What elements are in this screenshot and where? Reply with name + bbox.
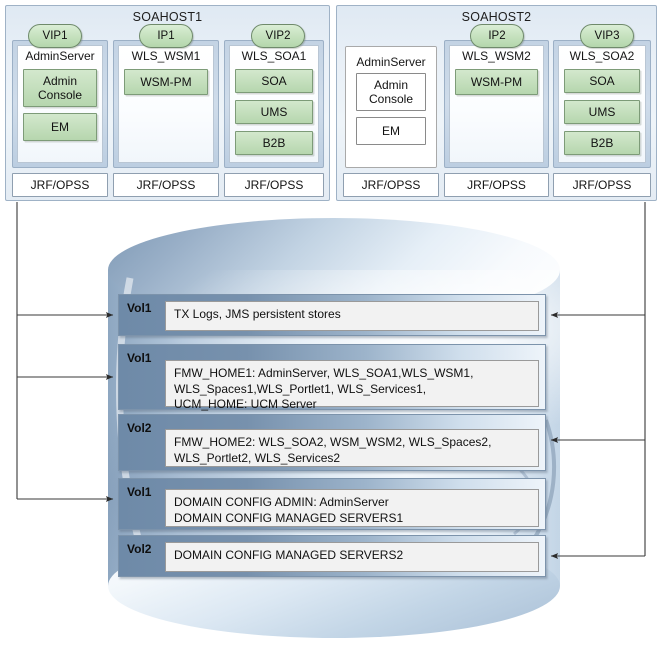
vip-badge-vip3: VIP3 xyxy=(580,24,634,48)
server-name: WLS_WSM1 xyxy=(114,49,218,63)
volume-row-5: Vol2 DOMAIN CONFIG MANAGED SERVERS2 xyxy=(118,535,546,577)
server-name: AdminServer xyxy=(346,55,436,69)
vip-badge-vip2: VIP2 xyxy=(251,24,305,48)
jrf-opss-box-3: JRF/OPSS xyxy=(224,173,324,197)
component-soa: SOA xyxy=(564,69,640,93)
host-title: SOAHOST2 xyxy=(337,10,656,24)
diagram-canvas: SOAHOST1 VIP1 AdminServer Admin Console … xyxy=(0,0,662,651)
vip-label: VIP2 xyxy=(266,30,291,42)
component-b2b: B2B xyxy=(235,131,313,155)
volume-content: FMW_HOME2: WLS_SOA2, WSM_WSM2, WLS_Space… xyxy=(165,429,539,467)
vip-badge-ip2: IP2 xyxy=(470,24,524,48)
volume-label: Vol1 xyxy=(127,485,151,499)
volume-label: Vol1 xyxy=(127,301,151,315)
vip-label: VIP1 xyxy=(43,30,68,42)
server-box-wls-wsm2: WLS_WSM2 WSM-PM xyxy=(444,40,549,168)
server-box-wls-soa1: WLS_SOA1 SOA UMS B2B xyxy=(224,40,324,168)
vip-badge-ip1: IP1 xyxy=(139,24,193,48)
server-name: WLS_SOA2 xyxy=(554,49,650,63)
volume-content: DOMAIN CONFIG ADMIN: AdminServer DOMAIN … xyxy=(165,489,539,527)
server-name: WLS_WSM2 xyxy=(445,49,548,63)
component-ums: UMS xyxy=(564,100,640,124)
volume-row-4: Vol1 DOMAIN CONFIG ADMIN: AdminServer DO… xyxy=(118,478,546,530)
component-wsm-pm: WSM-PM xyxy=(455,69,538,95)
jrf-opss-box-1: JRF/OPSS xyxy=(12,173,108,197)
server-box-adminserver-2: AdminServer Admin Console EM xyxy=(345,46,437,168)
jrf-opss-box-5: JRF/OPSS xyxy=(444,173,549,197)
host-title: SOAHOST1 xyxy=(6,10,329,24)
volume-row-1: Vol1 TX Logs, JMS persistent stores xyxy=(118,294,546,336)
vip-label: VIP3 xyxy=(595,30,620,42)
volume-content: FMW_HOME1: AdminServer, WLS_SOA1,WLS_WSM… xyxy=(165,360,539,407)
volume-content: TX Logs, JMS persistent stores xyxy=(165,301,539,331)
server-box-wls-wsm1: WLS_WSM1 WSM-PM xyxy=(113,40,219,168)
jrf-opss-box-2: JRF/OPSS xyxy=(113,173,219,197)
jrf-opss-box-4: JRF/OPSS xyxy=(343,173,439,197)
vip-label: IP1 xyxy=(157,30,174,42)
volume-content: DOMAIN CONFIG MANAGED SERVERS2 xyxy=(165,542,539,572)
volume-row-3: Vol2 FMW_HOME2: WLS_SOA2, WSM_WSM2, WLS_… xyxy=(118,414,546,471)
component-wsm-pm: WSM-PM xyxy=(124,69,208,95)
server-box-adminserver-1: AdminServer Admin Console EM xyxy=(12,40,108,168)
vip-badge-vip1: VIP1 xyxy=(28,24,82,48)
component-em: EM xyxy=(356,117,426,145)
component-ums: UMS xyxy=(235,100,313,124)
jrf-opss-box-6: JRF/OPSS xyxy=(553,173,651,197)
volume-label: Vol1 xyxy=(127,351,151,365)
component-admin-console: Admin Console xyxy=(356,73,426,111)
component-admin-console: Admin Console xyxy=(23,69,97,107)
component-b2b: B2B xyxy=(564,131,640,155)
server-box-wls-soa2: WLS_SOA2 SOA UMS B2B xyxy=(553,40,651,168)
server-name: AdminServer xyxy=(13,49,107,63)
volume-label: Vol2 xyxy=(127,421,151,435)
component-soa: SOA xyxy=(235,69,313,93)
volume-row-2: Vol1 FMW_HOME1: AdminServer, WLS_SOA1,WL… xyxy=(118,344,546,410)
server-name: WLS_SOA1 xyxy=(225,49,323,63)
volume-label: Vol2 xyxy=(127,542,151,556)
component-em: EM xyxy=(23,113,97,141)
vip-label: IP2 xyxy=(488,30,505,42)
